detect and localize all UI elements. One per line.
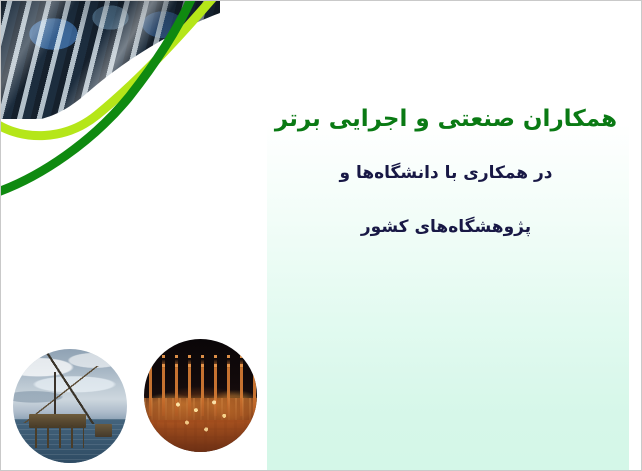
slide-subtitle-line-1: در همکاری با دانشگاه‌ها و bbox=[273, 162, 619, 184]
title-block: همکاران صنعتی و اجرایی برتر در همکاری با… bbox=[267, 105, 629, 238]
platform-secondary-rig bbox=[95, 424, 112, 437]
slide-main-title: همکاران صنعتی و اجرایی برتر bbox=[273, 105, 619, 134]
offshore-platform-photo bbox=[13, 349, 127, 463]
dark-green-swoosh-curve bbox=[1, 1, 193, 193]
decorative-swoosh-group bbox=[1, 1, 268, 201]
refinery-lights-layer bbox=[144, 339, 257, 452]
slide-subtitle-line-2: پژوهشگاه‌های کشور bbox=[273, 216, 619, 238]
content-panel: همکاران صنعتی و اجرایی برتر در همکاری با… bbox=[267, 1, 629, 471]
platform-mast bbox=[54, 372, 56, 418]
platform-legs bbox=[31, 425, 83, 448]
presentation-slide: همکاران صنعتی و اجرایی برتر در همکاری با… bbox=[0, 0, 642, 471]
left-artwork-panel bbox=[1, 1, 268, 471]
refinery-night-photo bbox=[144, 339, 257, 452]
